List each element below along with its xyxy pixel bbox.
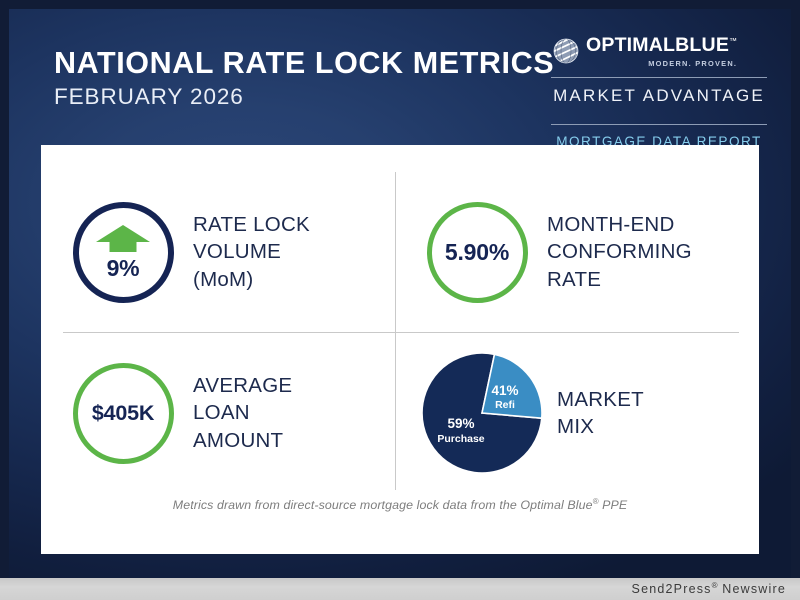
- trademark-symbol: ™: [729, 37, 737, 46]
- metrics-card: 9% RATE LOCK VOLUME (MoM): [41, 145, 759, 554]
- poster-gradient-background: NATIONAL RATE LOCK METRICS FEBRUARY 2026: [9, 9, 791, 578]
- metric-label-line: AVERAGE: [193, 372, 395, 399]
- card-footnote: Metrics drawn from direct-source mortgag…: [41, 497, 759, 512]
- grid-divider-vertical: [395, 172, 396, 490]
- brand-block: OPTIMALBLUE™ MODERN. PROVEN. MARKET ADVA…: [551, 35, 767, 149]
- metrics-grid: 9% RATE LOCK VOLUME (MoM): [41, 145, 759, 490]
- page-subtitle-period: FEBRUARY 2026: [54, 85, 554, 109]
- newswire-text-before: Send2Press: [632, 582, 712, 596]
- metric-value: 9%: [107, 257, 140, 280]
- badge-holder: 5.90%: [413, 202, 541, 303]
- newswire-bar: Send2Press® Newswire: [0, 578, 800, 600]
- metric-label-line: MIX: [557, 413, 749, 440]
- infographic-root: NATIONAL RATE LOCK METRICS FEBRUARY 2026: [0, 0, 800, 600]
- metric-label-line: RATE LOCK: [193, 211, 395, 238]
- metric-label-line: VOLUME: [193, 238, 395, 265]
- metric-label: AVERAGE LOAN AMOUNT: [187, 372, 395, 454]
- pie-label-purchase-name: Purchase: [437, 433, 484, 445]
- grid-divider-horizontal: [63, 332, 739, 333]
- metric-label-line: MARKET: [557, 386, 749, 413]
- metric-market-mix: 59% Purchase 41% Refi MARKET MIX: [413, 335, 749, 491]
- page-title: NATIONAL RATE LOCK METRICS: [54, 47, 554, 79]
- ring-navy-badge: 9%: [73, 202, 174, 303]
- badge-holder: $405K: [59, 363, 187, 464]
- metric-rate-lock-volume: 9% RATE LOCK VOLUME (MoM): [59, 173, 395, 331]
- metric-label: RATE LOCK VOLUME (MoM): [187, 211, 395, 293]
- metric-label-line: MONTH-END: [547, 211, 749, 238]
- poster-frame: NATIONAL RATE LOCK METRICS FEBRUARY 2026: [0, 0, 800, 578]
- metric-month-end-conforming-rate: 5.90% MONTH-END CONFORMING RATE: [413, 173, 749, 331]
- brand-wordmark-text: OPTIMALBLUE: [586, 34, 729, 56]
- metric-average-loan-amount: $405K AVERAGE LOAN AMOUNT: [59, 335, 395, 491]
- pie-holder: 59% Purchase 41% Refi: [413, 351, 551, 475]
- brand-wordmark-wrap: OPTIMALBLUE™ MODERN. PROVEN.: [586, 35, 737, 68]
- footnote-text-before: Metrics drawn from direct-source mortgag…: [173, 498, 593, 512]
- market-mix-pie-chart: 59% Purchase 41% Refi: [420, 351, 544, 475]
- footnote-text-after: PPE: [599, 498, 628, 512]
- metric-label-line: (MoM): [193, 266, 395, 293]
- ring-green-badge: 5.90%: [427, 202, 528, 303]
- brand-tagline: MODERN. PROVEN.: [648, 59, 737, 68]
- striped-sphere-logo-icon: [553, 38, 579, 64]
- arrow-up-icon: [96, 225, 150, 252]
- pie-label-refi-name: Refi: [495, 399, 515, 411]
- brand-wordmark: OPTIMALBLUE™: [586, 36, 737, 56]
- brand-market-advantage: MARKET ADVANTAGE: [551, 78, 767, 115]
- metric-label-line: AMOUNT: [193, 427, 395, 454]
- metric-value: $405K: [92, 401, 154, 426]
- metric-label: MARKET MIX: [551, 386, 749, 441]
- pie-label-purchase-pct: 59%: [447, 416, 474, 431]
- metric-label: MONTH-END CONFORMING RATE: [541, 211, 749, 293]
- metric-label-line: CONFORMING: [547, 238, 749, 265]
- newswire-text-after: Newswire: [718, 582, 786, 596]
- poster-header: NATIONAL RATE LOCK METRICS FEBRUARY 2026: [9, 9, 791, 143]
- metric-label-line: LOAN: [193, 399, 395, 426]
- badge-holder: 9%: [59, 202, 187, 303]
- title-block: NATIONAL RATE LOCK METRICS FEBRUARY 2026: [54, 47, 554, 109]
- pie-label-refi-pct: 41%: [491, 383, 518, 398]
- brand-logo-row: OPTIMALBLUE™ MODERN. PROVEN.: [551, 35, 767, 68]
- ring-green-badge: $405K: [73, 363, 174, 464]
- newswire-credit: Send2Press® Newswire: [632, 581, 786, 596]
- ring-content: 9%: [96, 225, 150, 280]
- metric-value: 5.90%: [445, 239, 509, 266]
- metric-label-line: RATE: [547, 266, 749, 293]
